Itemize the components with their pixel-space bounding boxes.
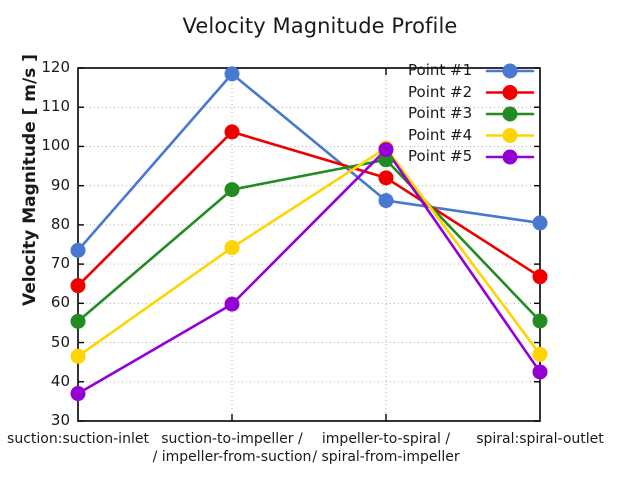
data-point-2-4	[533, 269, 548, 284]
y-tick-label: 120	[30, 58, 70, 76]
data-point-1-1	[71, 243, 86, 258]
data-point-2-2	[225, 124, 240, 139]
series-line-4	[78, 148, 540, 356]
y-tick-label: 30	[30, 411, 70, 429]
legend-label-5[interactable]: Point #5	[408, 147, 472, 165]
data-point-4-4	[533, 347, 548, 362]
data-point-4-2	[225, 240, 240, 255]
x-tick-label-line2: / spiral-from-impeller	[276, 448, 496, 466]
legend-label-4[interactable]: Point #4	[408, 126, 472, 144]
y-tick-label: 110	[30, 97, 70, 115]
y-tick-label: 50	[30, 333, 70, 351]
data-point-4-1	[71, 349, 86, 364]
data-point-5-3	[379, 142, 394, 157]
series-line-3	[78, 160, 540, 322]
y-tick-label: 70	[30, 254, 70, 272]
data-point-2-3	[379, 170, 394, 185]
data-point-5-2	[225, 297, 240, 312]
y-tick-label: 100	[30, 136, 70, 154]
y-tick-label: 80	[30, 215, 70, 233]
data-point-3-4	[533, 313, 548, 328]
data-point-2-1	[71, 278, 86, 293]
data-point-3-2	[225, 182, 240, 197]
data-point-3-1	[71, 314, 86, 329]
chart-figure: Velocity Magnitude Profile Velocity Magn…	[0, 0, 640, 480]
legend-label-2[interactable]: Point #2	[408, 83, 472, 101]
y-tick-label: 40	[30, 372, 70, 390]
plot-canvas	[0, 0, 640, 480]
data-point-1-2	[225, 66, 240, 81]
data-point-5-1	[71, 386, 86, 401]
x-tick-label: spiral:spiral-outlet	[430, 430, 640, 448]
data-point-1-4	[533, 215, 548, 230]
x-tick-label-line1: spiral:spiral-outlet	[430, 430, 640, 448]
series-line-5	[78, 150, 540, 394]
data-point-1-3	[379, 193, 394, 208]
legend-label-3[interactable]: Point #3	[408, 104, 472, 122]
legend-label-1[interactable]: Point #1	[408, 61, 472, 79]
y-tick-label: 60	[30, 293, 70, 311]
data-point-5-4	[533, 364, 548, 379]
y-tick-label: 90	[30, 176, 70, 194]
